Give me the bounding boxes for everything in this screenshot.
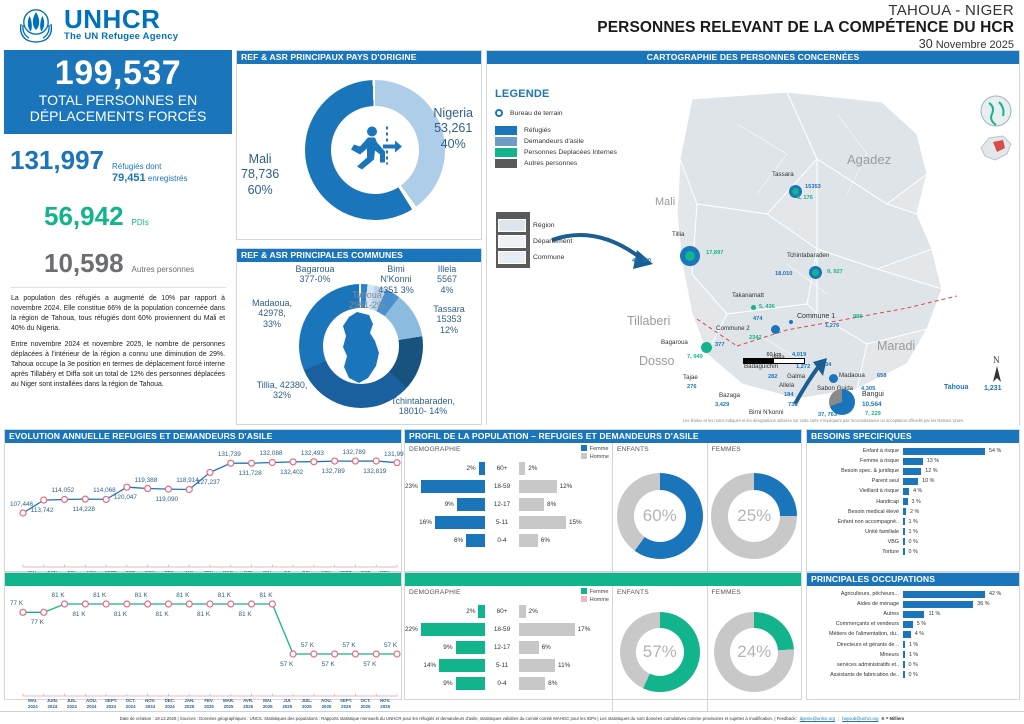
pyramid-age-label: 5-11 [485,519,519,526]
map-point-tillia[interactable] [680,246,700,266]
label-illela-pct: 4% [423,285,471,295]
swatch-pdi-icon [495,148,517,157]
axis-tick-label: NOV.2024 [140,698,160,710]
data-label: 57 K [363,661,376,668]
logo-subtitle: The UN Refugee Agency [64,32,178,42]
profil-ref-femmes: FEMMES 25% [708,443,802,584]
title-region: TAHOUA - NIGER [597,2,1014,19]
pyramid-male-bar [519,623,575,636]
map-point-madaoua[interactable] [829,374,838,383]
panel-profil-pdi: PROFIL DE LA POPULATION – PERSONNES DEPL… [404,572,802,700]
swatch-autres-icon [495,159,517,168]
map-value-commune2-blue: 474 [753,316,763,322]
pyramid-male-bar [519,659,555,672]
map-place-tahoua: Tahoua [944,384,968,391]
panel-title-communes: REF & ASR PRINCIPALES COMMUNES [237,249,481,262]
logo-title: UNHCR [64,6,178,32]
profil-pdi-demographie: DEMOGRAPHIE Femme Homme 2%60+2%22%18-591… [405,586,613,712]
kpi-pdis-label: PDIs [132,218,149,228]
kpi-hero-caption-2: DÉPLACEMENTS FORCÉS [8,108,228,125]
axis-tick-label: MAI.2025 [258,698,278,710]
pyramid-female-side: 9% [405,677,485,690]
label-tahoua-name: Tahoua [337,290,397,300]
pyramid-female-side: 2% [405,605,485,618]
page-title: TAHOUA - NIGER PERSONNES RELEVANT DE LA … [597,2,1014,51]
axis-tick-label: SEPT.2024 [101,698,121,710]
pyramid-female-bar [457,498,485,511]
map-value-badaguichiri-green: 34 [825,362,831,368]
bar-row: Autres11 % [807,609,1019,619]
data-label: 81 K [218,592,231,599]
map-place-tchintabaraden: Tchintabaraden [787,252,829,259]
kpi-refugies-number: 131,997 [10,145,104,176]
label-bagaroua-value: 377-0% [267,274,363,284]
data-label: 118,914 [176,477,199,484]
data-label: 132,789 [322,468,345,475]
legend-label-pdi: Personnes Deplacées Internes [524,149,617,156]
data-label: 119,090 [155,496,178,503]
bar-row-value: 10 % [918,478,934,484]
bar-row-label: Commerçants et vendeurs [807,621,903,627]
bar-row: VBG0 % [807,537,1019,547]
pyramid-male-side: 8% [519,677,613,690]
bar-row: Parent seul10 % [807,476,1019,486]
data-label: 81 K [176,592,189,599]
data-label: 131,728 [239,470,262,477]
evolution-ref-svg [5,443,403,571]
kpi-refugies-registered: 79,451 [112,172,146,184]
pyramid-age-label: 18-59 [485,483,519,490]
data-label: 77 K [10,600,23,607]
label-illela-value: 5567 [423,274,471,284]
pyramid-male-side: 6% [519,641,613,654]
profil-ref-enfants: ENFANTS 60% [613,443,708,584]
data-label: 81 K [197,611,210,618]
unhcr-logo: UNHCR The UN Refugee Agency [14,4,178,44]
kpi-hero-number: 199,537 [8,56,228,92]
label-madaoua-value: 42978, [241,308,303,318]
pyramid-male-side: 11% [519,659,613,672]
admin-row-region: Région [496,217,646,233]
legend-item-asile: Demandeurs d'asile [495,137,645,146]
profil-pdi-pyramid: 2%60+2%22%18-5917%9%12-176%14%5-1111%9%0… [405,602,613,692]
map-name-mali: Mali [655,196,675,208]
bar-row: Besoin medical élevé2 % [807,507,1019,517]
pyramid-age-label: 18-59 [485,626,519,633]
donut-enfants-ref: 60% [617,473,703,559]
donut-enfants-ref-value: 60% [617,473,703,559]
label-bagaroua-name: Bagaroua [267,264,363,274]
map-value-bazaga-blue: 3,429 [715,402,729,408]
pyramid-male-value: 2% [529,608,538,615]
map-point-tchintabaraden[interactable] [809,266,822,279]
pyramid-female-value: 9% [443,644,452,651]
bar-row-label: Directeurs et gérants de .. [807,642,903,648]
label-illela-name: Illela [423,264,471,274]
pyramid-female-value: 9% [445,501,454,508]
donut-enfants-pdi: 57% [620,612,700,692]
pyramid-row: 14%5-1111% [405,656,613,674]
title-date: 30 Novembre 2025 [597,37,1014,51]
bar-row: Directeurs et gérants de ..1 % [807,639,1019,649]
donut-femmes-pdi-value: 24% [714,612,794,692]
title-main: PERSONNES RELEVANT DE LA COMPÉTENCE DU H… [597,19,1014,37]
pyramid-male-value: 12% [560,483,573,490]
pyramid-female-bar [466,534,485,547]
data-label: 57 K [301,642,314,649]
niger-inset-icon [979,134,1013,167]
tahoua-region-silhouette-icon [335,312,387,386]
bar-row-value: 4 % [909,488,922,494]
bar-row-label: Agriculteurs, pêcheurs... [807,591,903,597]
pyramid-row: 22%18-5917% [405,620,613,638]
data-label: 131,739 [218,451,241,458]
origine-label-mali: Mali 78,736 60% [241,152,279,198]
pyramid-male-value: 17% [578,626,591,633]
panel-title-besoins: BESOINS SPECIFIQUES [807,430,1019,443]
map-name-agadez: Agadez [847,152,891,167]
map-value-bagaroua-green: 7, 949 [687,354,703,360]
donut-femmes-pdi: 24% [714,612,794,692]
axis-tick-label: OCT.2024 [121,698,141,710]
bar-row-bar [903,621,913,628]
map-value-tchinta-blue: 18,010 [775,271,792,277]
pyramid-age-label: 60+ [485,465,519,472]
pyramid-male-bar [519,480,557,493]
pyramid-female-value: 2% [467,465,476,472]
pyramid-male-bar [519,677,545,690]
map-value-madaoua-blue: 658 [877,373,887,379]
admin-label-commune: Commune [533,254,564,261]
pyramid-age-label: 0-4 [485,537,519,544]
communes-label-tahoua: Tahoua 2981-2% [337,290,397,311]
map-scale-bar: 60 km [743,352,805,364]
profil-ref-body: DEMOGRAPHIE Femme Homme 2%60+2%23%18-591… [405,443,801,584]
legend-femme-pdi: Femme [581,588,609,596]
label-madaoua-name: Madaoua, [241,298,303,308]
bar-row-label: Aides de ménage [807,601,903,607]
pyramid-row: 6%0-46% [405,531,613,549]
data-label: 113,742 [31,507,54,514]
profil-ref-femmes-caption: FEMMES [708,443,802,453]
legend-bureau-row: Bureau de terrain [495,109,645,117]
date-day: 30 [919,37,933,51]
footer-text: Date de création : 19.12.2025 | Sources … [120,716,797,721]
data-label: 119,388 [135,477,158,484]
profil-pdi-enfants-caption: ENFANTS [613,586,707,596]
map-value-tchinta-green: 9, 927 [827,269,843,275]
pyramid-female-bar [421,623,485,636]
pyramid-female-side: 2% [405,462,485,475]
pyramid-female-side: 22% [405,623,485,636]
bar-row-bar [903,631,911,638]
page-footer: Date de création : 19.12.2025 | Sources … [0,711,1024,724]
kpi-autres-label: Autres personnes [132,265,195,275]
map-place-commune1: Commune 1 [797,313,835,320]
footer-email-2[interactable]: hayoub@unhcr.org [842,716,878,721]
bar-row-value: 5 % [913,621,926,627]
data-label: 81 K [72,611,85,618]
axis-tick-label: OCT.2025 [356,698,376,710]
pyramid-male-side: 12% [519,480,613,493]
bar-row-value: 2 % [906,509,919,515]
map-place-commune2: Commune 2 [716,325,750,332]
map-place-tillia: Tillia [672,231,685,238]
bar-row-label: Métiers de l'alimentation, du.. [807,631,903,637]
bar-row-label: VBG [807,539,903,545]
bar-row-label: Autres [807,611,903,617]
swatch-asile-icon [495,137,517,146]
evolution-ref-chart: 107,446113,742114,052114,228114,068120,0… [5,443,401,584]
data-label: 107,446 [10,501,33,508]
kpi-hero-caption-1: TOTAL PERSONNES EN [8,92,228,109]
pyramid-age-label: 0-4 [485,680,519,687]
admin-row-departement: Département [496,233,646,249]
data-label: 114,052 [52,487,75,494]
bar-row-value: 11 % [924,611,940,617]
origine-label-nigeria: Nigeria 53,261 40% [433,106,473,152]
footer-note: K = Milliers [881,716,904,721]
bar-row-value: 0 % [905,662,918,668]
profil-ref-pyramid: 2%60+2%23%18-5912%9%12-178%16%5-1115%6%0… [405,459,613,549]
bar-row: Agriculteurs, pêcheurs...42 % [807,589,1019,599]
pyramid-age-label: 12-17 [485,644,519,651]
admin-row-commune: Commune [496,249,646,265]
map-admin-legend: Région Département Commune [496,212,646,265]
kpi-paragraph-1: La population des réfugiés a augmenté de… [11,294,225,334]
map-value-tillia-blue: 42, 380 [632,258,651,264]
pyramid-male-value: 15% [569,519,582,526]
map-value-birni-blue: 738 [788,402,798,408]
bar-row: Mineurs1 % [807,650,1019,660]
bar-row-label: services administratifs et.. [807,662,903,668]
bar-row-label: Parent seul [807,478,903,484]
kpi-row-refugies: 131,997 Réfugiés dont 79,451 enregistrés [4,134,232,186]
bar-row-value: 13 % [923,458,939,464]
data-label: 57 K [384,642,397,649]
map-value-commune1-blue: 1,276 [825,323,839,329]
pyramid-female-side: 16% [405,516,485,529]
pyramid-row: 9%12-178% [405,495,613,513]
communes-label-tillia: Tillia, 42380, 32% [243,380,321,401]
map-place-badaguichiri: Badaguichiri [744,363,778,370]
data-label: 127,237 [197,479,220,486]
pyramid-male-bar [519,498,544,511]
bar-row-label: Besoin medical élevé [807,509,903,515]
communes-label-bagaroua: Bagaroua 377-0% [267,264,363,285]
kpi-refugies-label-1: Réfugiés dont [112,162,161,171]
map-place-galma: Galma [787,373,805,380]
data-label: 132,819 [363,468,386,475]
bar-row-value: 1 % [905,529,918,535]
bar-row-bar [903,611,924,618]
panel-evolution-pdi: EVOLUTION ANNUELLE PERSONNES DEPLACEES I… [4,572,402,700]
label-tillia-pct: 32% [243,390,321,400]
pyramid-female-value: 2% [466,608,475,615]
pyramid-male-value: 8% [547,501,556,508]
pyramid-male-side: 17% [519,623,613,636]
bar-row: Vieillard à risque4 % [807,486,1019,496]
pyramid-row: 2%60+2% [405,459,613,477]
kpi-refugies-label-3: enregistrés [148,174,188,183]
map-value-allela-blue: 184 [784,392,794,398]
communes-label-illela: Illela 5567 4% [423,264,471,295]
axis-tick-label: AOU.2024 [82,698,102,710]
panel-principales-communes: REF & ASR PRINCIPALES COMMUNES Bagaroua … [236,248,482,425]
pyramid-row: 23%18-5912% [405,477,613,495]
label-madaoua-pct: 33% [241,319,303,329]
data-label: 81 K [239,611,252,618]
communes-label-tassara: Tassara 15353 12% [422,304,476,335]
data-label: 132,493 [301,450,324,457]
data-label: 81 K [259,592,272,599]
axis-tick-label: JUIL.2024 [62,698,82,710]
label-bimi-name-1: Bimi [370,264,422,274]
page-header: UNHCR The UN Refugee Agency TAHOUA - NIG… [0,0,1024,46]
map-point-bagaroua[interactable] [701,342,712,353]
axis-tick-label: JAN.2025 [180,698,200,710]
admin-label-region: Région [533,222,555,229]
label-tchinta-value: 18010- 14% [368,406,478,416]
pyramid-female-bar [421,480,485,493]
pyramid-female-value: 16% [419,519,432,526]
map-name-maradi: Maradi [877,339,915,353]
bar-row: Commerçants et vendeurs5 % [807,619,1019,629]
map-name-tillaberi: Tillaberi [627,314,670,328]
pyramid-row: 9%0-48% [405,674,613,692]
bar-row: Torture0 % [807,547,1019,557]
panel-title-map: CARTOGRAPHIE DES PERSONNES CONCERNÉES [487,51,1019,64]
map-point-commune2[interactable] [771,325,780,334]
pyramid-male-bar [519,641,539,654]
kpi-row-pdis: 56,942 PDIs [4,185,232,232]
map-place-tajae: Tajae [683,374,698,381]
data-label: 81 K [52,592,65,599]
pyramid-row: 16%5-1115% [405,513,613,531]
globe-inset-icon [979,94,1013,133]
panel-besoins-specifiques: BESOINS SPECIFIQUES Enfant à risque54 %F… [806,429,1020,572]
data-label: 81 K [114,611,127,618]
data-label: 114,228 [72,506,95,513]
evolution-pdi-axis: MAI.2024JUIN.2024JUIL.2024AOU.2024SEPT.2… [23,698,395,710]
pyramid-female-side: 6% [405,534,485,547]
bar-row-value: 0 % [905,672,918,678]
label-tassara-name: Tassara [422,304,476,314]
kpi-pdis-number: 56,942 [44,201,124,232]
pyramid-female-side: 9% [405,498,485,511]
bar-row-label: Assistants de fabrication de.. [807,672,903,678]
kpi-autres-number: 10,598 [44,248,124,279]
data-label: 120,047 [114,494,137,501]
panel-pays-origine: REF & ASR PRINCIPAUX PAYS D'ORIGINE [236,50,482,240]
map-value-tassara-green: 5, 176 [797,195,813,201]
pyramid-female-bar [456,677,485,690]
pyramid-male-bar [519,605,526,618]
map-point-takanamatt[interactable] [751,305,756,310]
pyramid-male-side: 8% [519,498,613,511]
pyramid-age-label: 12-17 [485,501,519,508]
map-body[interactable]: LEGENDE Bureau de terrain Réfugiés Deman… [487,64,1019,425]
pyramid-female-value: 22% [405,626,418,633]
pyramid-male-value: 11% [558,662,570,669]
pyramid-age-label: 5-11 [485,662,519,669]
profil-pdi-enfants: ENFANTS 57% [613,586,708,712]
legend-bureau-label: Bureau de terrain [510,110,563,117]
bar-row-bar [903,591,985,598]
map-value-takanamatt-green: 5, 436 [759,304,775,310]
legend-item-pdi: Personnes Deplacées Internes [495,148,645,157]
axis-tick-label: NOV.2025 [375,698,395,710]
map-disclaimer: Les limites et les noms indiqués et les … [683,418,1013,423]
occupations-bar-list: Agriculteurs, pêcheurs...42 %Aides de mé… [807,586,1019,680]
bar-row-bar [903,458,923,465]
bar-row-value: 54 % [985,448,1001,454]
map-value-bangui-green: 7, 229 [865,411,881,417]
bar-row-bar [903,601,973,608]
bar-row-bar [903,468,921,475]
bar-row-label: Vieillard à risque [807,488,903,494]
pyramid-female-value: 9% [443,680,452,687]
pyramid-male-value: 2% [528,465,537,472]
bar-row-value: 0 % [905,539,918,545]
bureau-de-terrain-icon [495,109,503,117]
profil-pdi-body: DEMOGRAPHIE Femme Homme 2%60+2%22%18-591… [405,586,801,712]
map-value-bagaroua-blue: 377 [715,342,725,348]
north-arrow-icon: N [989,354,1005,389]
legend-item-refugies: Réfugiés [495,126,645,135]
origine-mali-value: 78,736 [241,167,279,182]
legend-label-autres: Autres personnes [524,160,577,167]
map-point-commune1[interactable] [789,320,793,324]
svg-text:N: N [993,355,1000,365]
swatch-refugies-icon [495,126,517,135]
axis-tick-label: JUIN.2024 [43,698,63,710]
map-place-takanamatt: Takanamatt [732,292,764,299]
pyramid-age-label: 60+ [485,608,519,615]
data-label: 114,068 [93,487,116,494]
bar-row-label: Enfant à risque [807,448,903,454]
communes-label-tchintabaraden: Tchintabaraden, 18010- 14% [368,396,478,417]
map-place-birni: Birni N'konni [749,409,784,416]
besoins-bar-list: Enfant à risque54 %Femme à risque13 %Bes… [807,443,1019,557]
bar-row-label: Torture [807,549,903,555]
map-name-dosso: Dosso [639,354,674,368]
map-place-bangui: Bangui [862,391,884,398]
bar-row: Besoin spec. & juridique12 % [807,466,1019,476]
bar-row-value: 12 % [921,468,937,474]
bar-row-value: 36 % [973,601,989,607]
map-value-tillia-green: 17,897 [706,250,723,256]
donut-femmes-ref-value: 25% [711,473,797,559]
bar-row: Enfant à risque54 % [807,446,1019,456]
bar-row-value: 1 % [905,519,918,525]
pyramid-female-value: 14% [423,662,436,669]
label-bimi-name-2: N'Konni [370,274,422,284]
pyramid-female-value: 6% [454,537,463,544]
profil-pdi-femmes-caption: FEMMES [708,586,802,596]
footer-email-1[interactable]: dgenie@unhcr.org [800,716,835,721]
panel-profil-refugies: PROFIL DE LA POPULATION – REFUGIES ET DE… [404,429,802,572]
panel-principales-occupations: PRINCIPALES OCCUPATIONS Agriculteurs, pê… [806,572,1020,700]
bar-row: Assistants de fabrication de..0 % [807,670,1019,680]
pyramid-male-side: 6% [519,534,613,547]
origine-chart: Nigeria 53,261 40% Mali 78,736 60% [237,64,481,240]
bar-row: Enfant non accompagné..1 % [807,517,1019,527]
kpi-hero: 199,537 TOTAL PERSONNES EN DÉPLACEMENTS … [4,50,232,134]
bar-row-label: Besoin spec. & juridique [807,468,903,474]
bar-row: Unité familiale1 % [807,527,1019,537]
donut-femmes-ref: 25% [711,473,797,559]
